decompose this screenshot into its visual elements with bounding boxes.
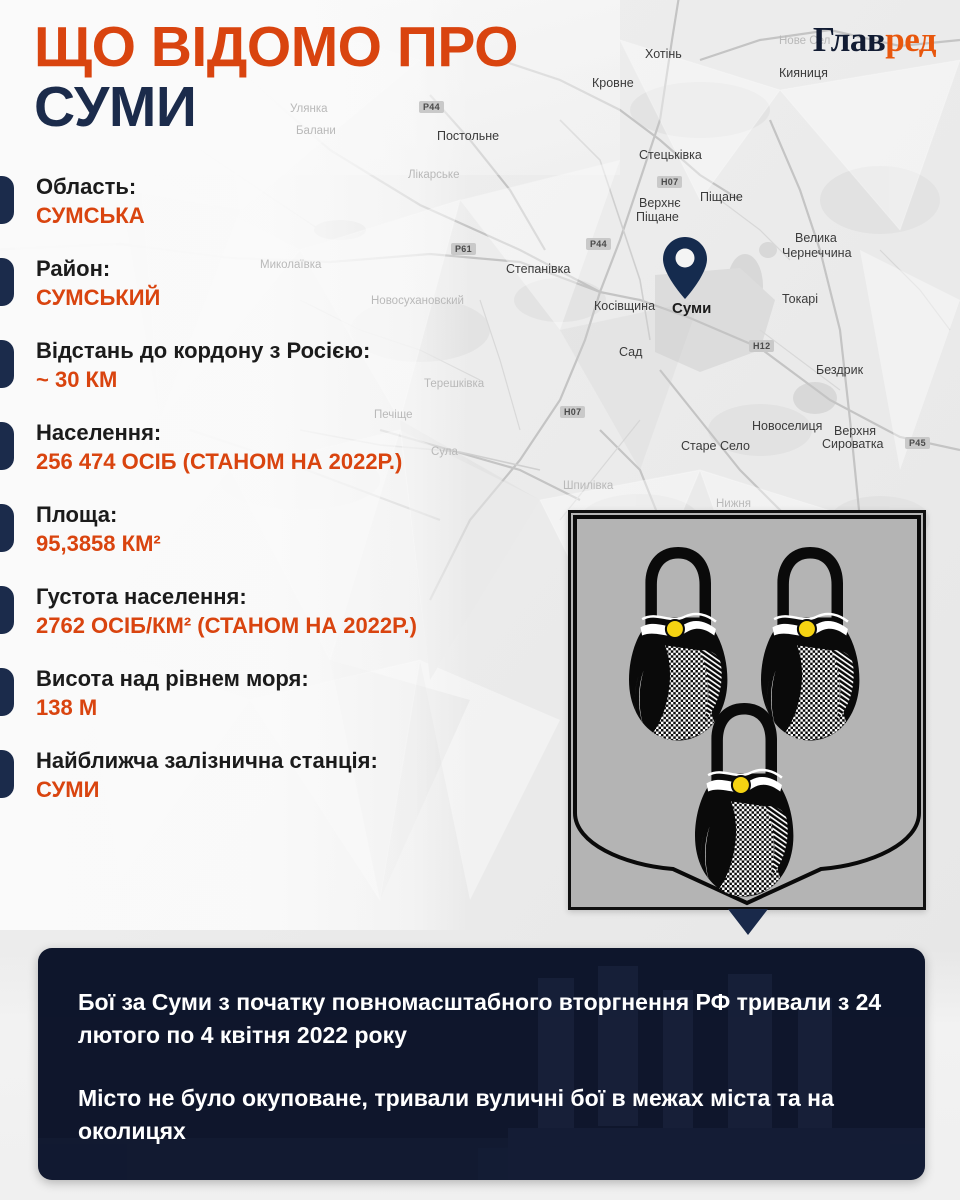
- fact-item: Район:СУМСЬКИЙ: [0, 254, 560, 313]
- map-place-label: Піщане: [636, 210, 679, 224]
- map-road-badge: Н07: [560, 406, 585, 418]
- fact-value: 95,3858 КМ²: [36, 529, 560, 559]
- map-place-label: Сироватка: [822, 437, 884, 451]
- map-road-badge: Н12: [749, 340, 774, 352]
- brand-logo-dark: Глав: [813, 20, 885, 59]
- map-place-label: Кияниця: [779, 66, 828, 80]
- fact-bullet-icon: [0, 258, 14, 306]
- fact-value: СУМИ: [36, 775, 560, 805]
- fact-bullet-icon: [0, 176, 14, 224]
- map-place-label: Сад: [619, 345, 642, 359]
- fact-bullet-icon: [0, 340, 14, 388]
- map-road-badge: Р44: [586, 238, 611, 250]
- fact-value: 256 474 ОСІБ (СТАНОМ НА 2022Р.): [36, 447, 560, 477]
- map-place-label: Велика: [795, 231, 837, 245]
- fact-item: Густота населення:2762 ОСІБ/КМ² (СТАНОМ …: [0, 582, 560, 641]
- fact-label: Густота населення:: [36, 582, 560, 611]
- fact-item: Висота над рівнем моря:138 М: [0, 664, 560, 723]
- map-place-label: Стецьківка: [639, 148, 702, 162]
- fact-value: 2762 ОСІБ/КМ² (СТАНОМ НА 2022Р.): [36, 611, 560, 641]
- note-paragraph-1: Бої за Суми з початку повномасштабного в…: [78, 986, 885, 1052]
- fact-label: Район:: [36, 254, 560, 283]
- fact-bullet-icon: [0, 504, 14, 552]
- fact-label: Область:: [36, 172, 560, 201]
- page-title-line2: СУМИ: [34, 76, 654, 138]
- coat-of-arms-pointer: [728, 909, 768, 935]
- fact-list: Область:СУМСЬКАРайон:СУМСЬКИЙВідстань до…: [0, 172, 560, 828]
- fact-label: Висота над рівнем моря:: [36, 664, 560, 693]
- note-paragraph-2: Місто не було окуповане, тривали вуличні…: [78, 1082, 885, 1148]
- fact-item: Область:СУМСЬКА: [0, 172, 560, 231]
- fact-value: СУМСЬКА: [36, 201, 560, 231]
- fact-bullet-icon: [0, 586, 14, 634]
- map-road-badge: Р45: [905, 437, 930, 449]
- map-place-label: Бездрик: [816, 363, 863, 377]
- map-place-label: Чернеччина: [782, 246, 852, 260]
- fact-bullet-icon: [0, 422, 14, 470]
- map-place-label: Піщане: [700, 190, 743, 204]
- map-place-label: Косівщина: [594, 299, 655, 313]
- map-place-label: Шпилівка: [563, 480, 613, 492]
- map-place-label: Токарі: [782, 292, 818, 306]
- coat-of-arms-panel: [568, 510, 926, 910]
- brand-logo[interactable]: Главред: [813, 22, 936, 57]
- map-place-label: Верхня: [834, 424, 876, 438]
- summary-note-panel: Бої за Суми з початку повномасштабного в…: [38, 948, 925, 1180]
- page-title-line1: ЩО ВІДОМО ПРО: [34, 18, 654, 76]
- fact-item: Площа:95,3858 КМ²: [0, 500, 560, 559]
- map-place-label: Старе Село: [681, 439, 750, 453]
- fact-label: Площа:: [36, 500, 560, 529]
- map-place-label: Новоселиця: [752, 419, 822, 433]
- page-title: ЩО ВІДОМО ПРО СУМИ: [34, 18, 654, 138]
- brand-logo-orange: ред: [885, 20, 936, 59]
- fact-item: Населення:256 474 ОСІБ (СТАНОМ НА 2022Р.…: [0, 418, 560, 477]
- coat-of-arms-card: [568, 510, 926, 910]
- coat-of-arms-shield: [571, 513, 923, 907]
- infographic-page: ХотіньКровнеНове СелКияницяПостольнеЛіка…: [0, 0, 960, 1200]
- map-place-label: Верхнє: [639, 196, 681, 210]
- fact-label: Населення:: [36, 418, 560, 447]
- fact-value: СУМСЬКИЙ: [36, 283, 560, 313]
- fact-value: ~ 30 КМ: [36, 365, 560, 395]
- fact-item: Найближча залізнична станція:СУМИ: [0, 746, 560, 805]
- map-place-label: Нижня: [716, 498, 751, 510]
- fact-label: Відстань до кордону з Росією:: [36, 336, 560, 365]
- fact-bullet-icon: [0, 668, 14, 716]
- fact-bullet-icon: [0, 750, 14, 798]
- map-road-badge: Н07: [657, 176, 682, 188]
- map-pin-sumy[interactable]: [663, 237, 707, 304]
- fact-label: Найближча залізнична станція:: [36, 746, 560, 775]
- fact-item: Відстань до кордону з Росією:~ 30 КМ: [0, 336, 560, 395]
- summary-note-body: Бої за Суми з початку повномасштабного в…: [38, 948, 925, 1148]
- fact-value: 138 М: [36, 693, 560, 723]
